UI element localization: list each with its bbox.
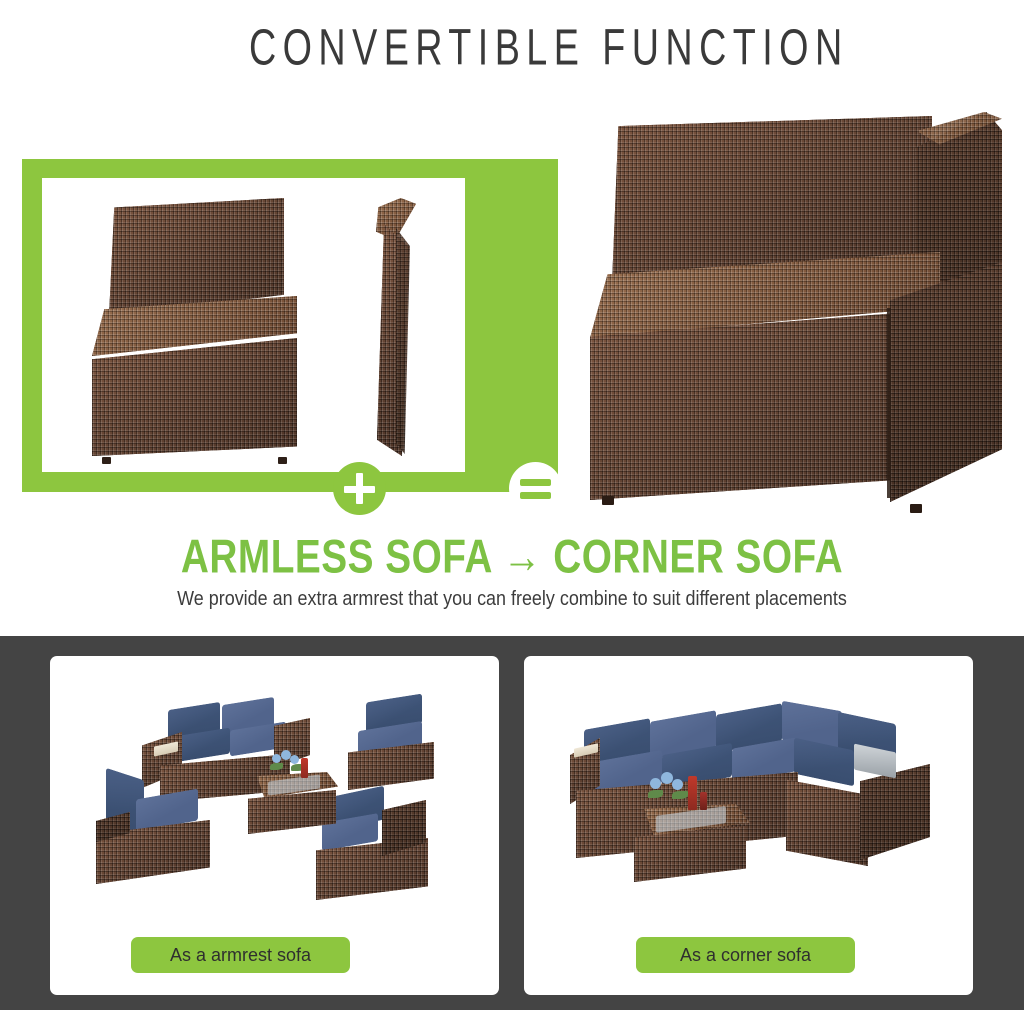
- plus-icon: [333, 462, 386, 515]
- corner-sofa-foot-right: [910, 504, 922, 513]
- flower-leaf: [270, 763, 283, 770]
- conversion-subtitle: We provide an extra armrest that you can…: [15, 586, 1008, 611]
- corner-sofa-foot-left: [602, 496, 614, 505]
- corner-sofa-module-seam: [887, 308, 891, 498]
- sectional-base-corner: [786, 770, 868, 866]
- coffee-table-body: [248, 790, 336, 834]
- armless-sofa-backrest: [109, 198, 284, 316]
- corner-sofa-illustration: [590, 112, 1010, 524]
- equals-icon: [509, 462, 562, 515]
- coffee-table-left-panel: [246, 772, 342, 838]
- conversion-headline: ARMLESS SOFA → CORNER SOFA: [15, 531, 1008, 584]
- drink-glass: [700, 792, 707, 810]
- combination-frame: [22, 159, 558, 492]
- combination-inner-panel: [42, 178, 465, 472]
- plus-icon-vertical-bar: [356, 473, 363, 504]
- showcase-panel-armrest: As a armrest sofa: [50, 656, 499, 995]
- flower-petal: [672, 779, 683, 790]
- cta-corner-sofa[interactable]: As a corner sofa: [636, 937, 855, 973]
- sofa-foot-right: [278, 457, 287, 464]
- cta-armrest-sofa[interactable]: As a armrest sofa: [131, 937, 350, 973]
- flower-leaf: [648, 790, 663, 798]
- equals-icon-bottom-bar: [520, 492, 551, 499]
- flower-petal: [650, 778, 661, 789]
- sectional-right-armrest: [860, 764, 930, 860]
- coffee-table2-body: [634, 826, 746, 882]
- armless-sofa-base: [92, 338, 297, 456]
- bottom-white-strip: [0, 1010, 1024, 1024]
- coffee-table-right-panel: [630, 804, 754, 886]
- flower-petal: [272, 754, 281, 763]
- drink-bottle: [301, 758, 308, 778]
- equals-icon-top-bar: [520, 479, 551, 486]
- infographic-page: CONVERTIBLE FUNCTION: [0, 0, 1024, 1024]
- showcase-band: As a armrest sofa: [0, 636, 1024, 1010]
- flower-arrangement: [270, 750, 314, 780]
- armchair-front-left: [96, 768, 224, 880]
- sofa-foot-left: [102, 457, 111, 464]
- flower-petal: [290, 755, 299, 764]
- armrest-side-edge: [396, 228, 410, 454]
- flower-leaf: [672, 791, 688, 799]
- corner-sofa-armrest-side: [890, 262, 1002, 502]
- page-title: CONVERTIBLE FUNCTION: [41, 18, 983, 77]
- armless-chair-top-right: [346, 698, 452, 784]
- corner-sofa-base: [590, 310, 938, 500]
- drink-bottle: [688, 776, 697, 810]
- armless-sofa-illustration: [92, 198, 297, 460]
- showcase-panel-corner: As a corner sofa: [524, 656, 973, 995]
- armrest-panel-illustration: [372, 198, 422, 456]
- flower-arrangement-2: [650, 770, 710, 814]
